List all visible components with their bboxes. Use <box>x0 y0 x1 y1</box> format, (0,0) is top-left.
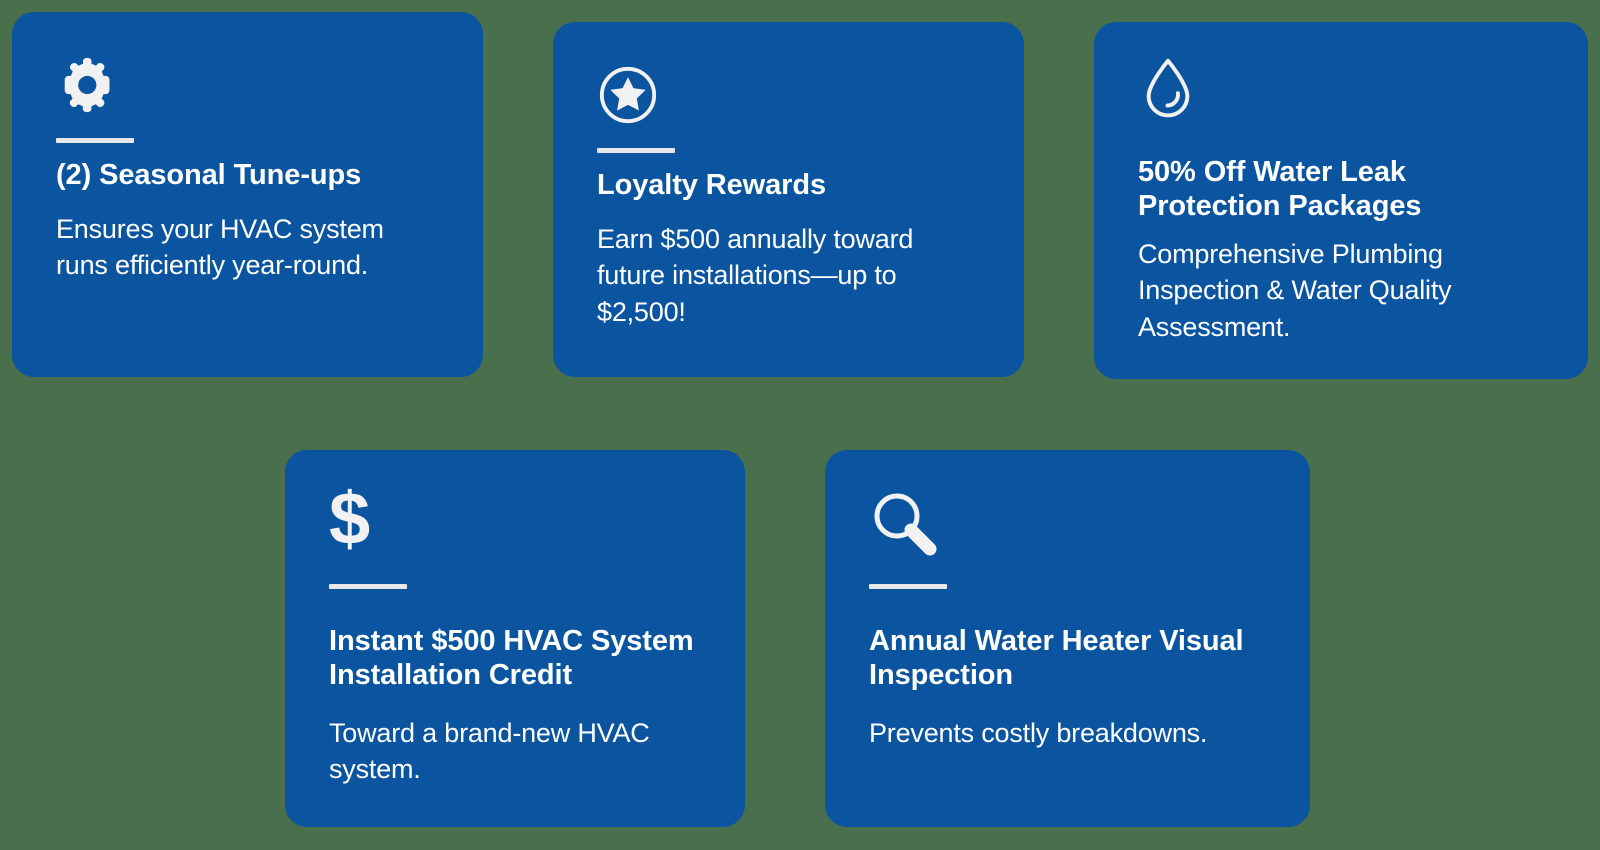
card-divider <box>597 148 675 153</box>
card-title: (2) Seasonal Tune-ups <box>56 159 361 193</box>
card-title: Instant $500 HVAC System Installation Cr… <box>329 625 701 693</box>
benefit-card-water-heater-inspection[interactable]: Annual Water Heater Visual Inspection Pr… <box>825 450 1310 827</box>
benefit-card-seasonal-tuneups[interactable]: (2) Seasonal Tune-ups Ensures your HVAC … <box>12 12 483 377</box>
card-title: Annual Water Heater Visual Inspection <box>869 625 1266 693</box>
card-title: Loyalty Rewards <box>597 169 826 203</box>
card-divider <box>869 584 947 589</box>
card-body: Earn $500 annually toward future install… <box>597 221 980 330</box>
benefits-card-grid: (2) Seasonal Tune-ups Ensures your HVAC … <box>0 0 1600 850</box>
gear-icon <box>56 54 118 116</box>
card-divider <box>329 584 407 589</box>
dollar-sign-icon: $ <box>329 488 369 564</box>
card-divider <box>56 138 134 143</box>
magnifying-glass-icon <box>869 488 939 564</box>
card-body: Comprehensive Plumbing Inspection & Wate… <box>1138 236 1544 345</box>
benefit-card-loyalty-rewards[interactable]: Loyalty Rewards Earn $500 annually towar… <box>553 22 1024 377</box>
star-circle-icon <box>597 64 659 126</box>
water-drop-icon <box>1138 56 1198 118</box>
card-body: Toward a brand-new HVAC system. <box>329 715 701 788</box>
card-body: Prevents costly breakdowns. <box>869 715 1207 751</box>
benefit-card-water-leak-protection[interactable]: 50% Off Water Leak Protection Packages C… <box>1094 22 1588 379</box>
card-body: Ensures your HVAC system runs efficientl… <box>56 211 439 284</box>
card-title: 50% Off Water Leak Protection Packages <box>1138 156 1544 224</box>
benefit-card-hvac-install-credit[interactable]: $ Instant $500 HVAC System Installation … <box>285 450 745 827</box>
